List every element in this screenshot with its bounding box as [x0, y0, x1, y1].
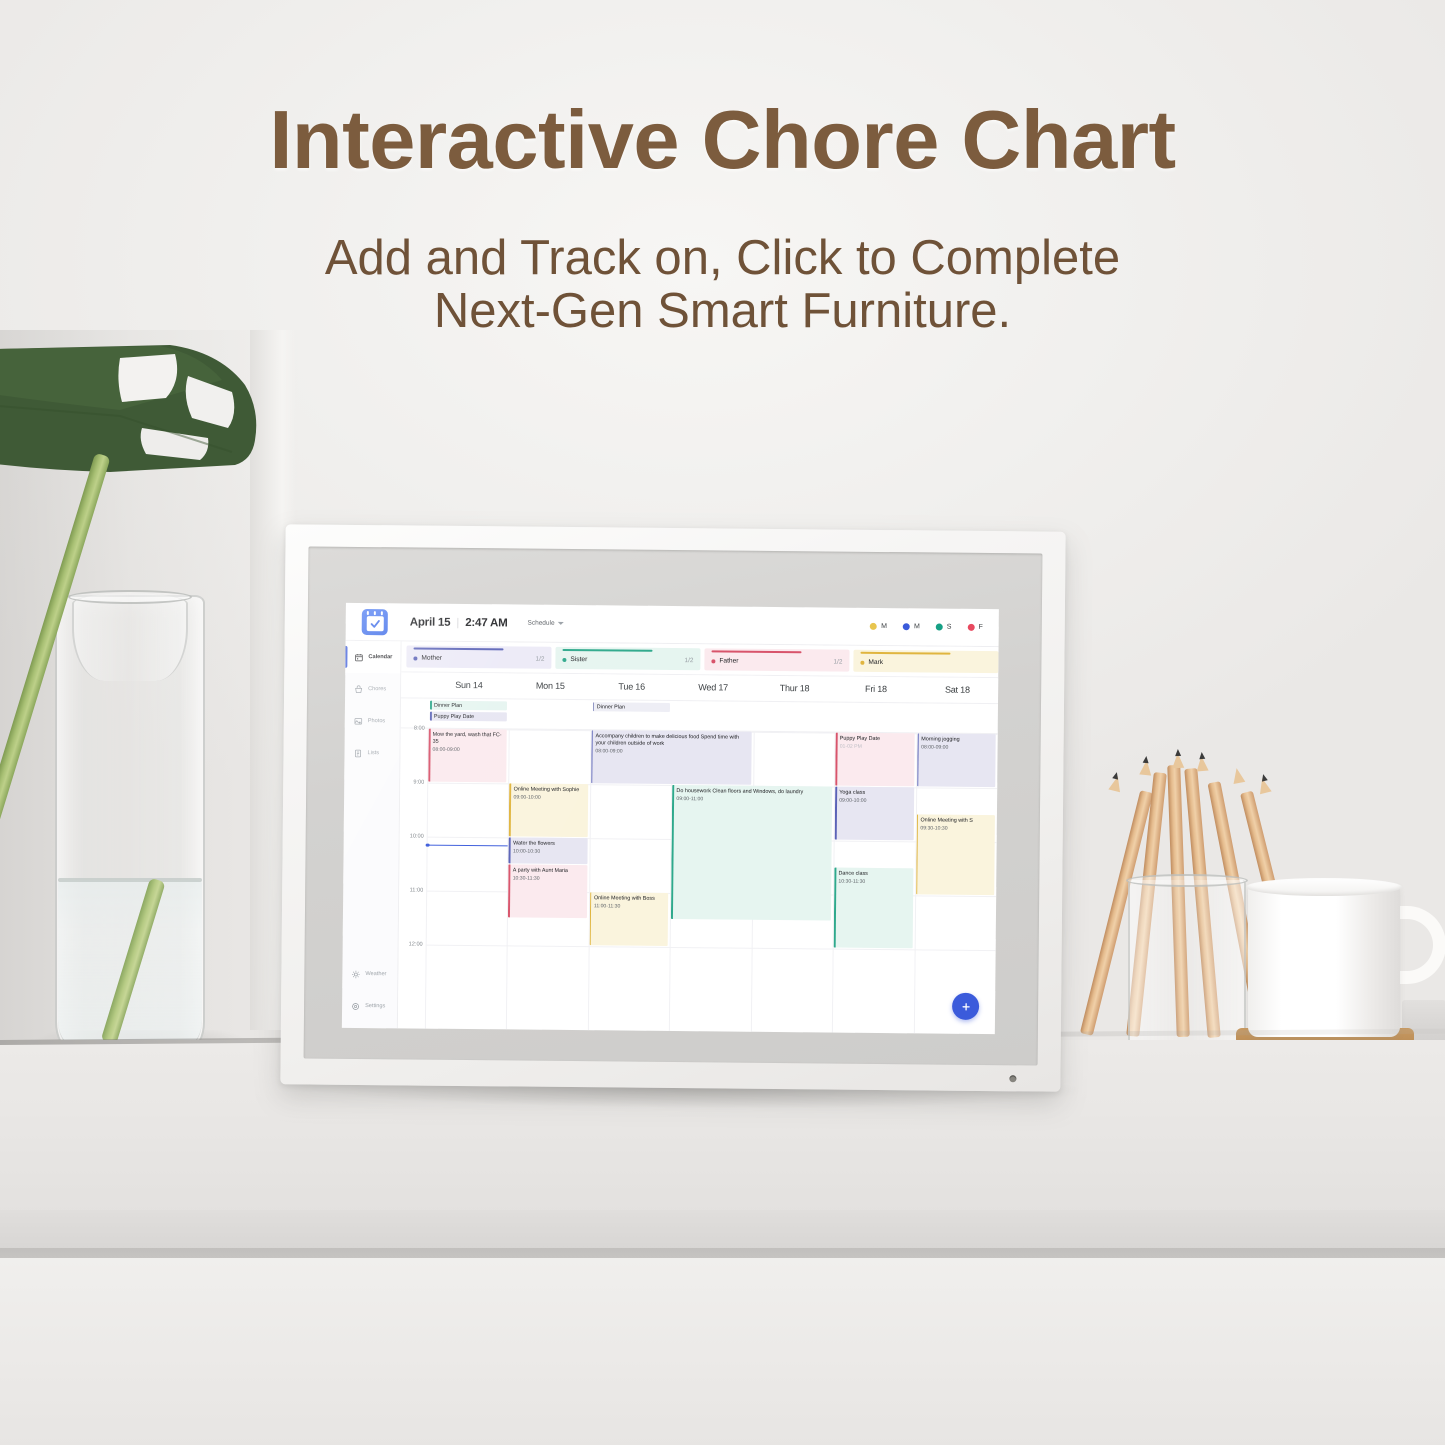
member-progress-bar: [712, 650, 802, 652]
current-time-dot: [426, 843, 430, 847]
header-member-avatars: MMSF: [870, 623, 983, 631]
chevron-down-icon: [558, 622, 564, 625]
member-color-dot: [413, 656, 417, 660]
event-time: 10:30-11:30: [838, 878, 909, 885]
event-time: 08:00-09:00: [595, 748, 748, 756]
member-filter-card[interactable]: Father1/2: [704, 648, 849, 671]
sidebar-item-label: Photos: [368, 718, 385, 724]
event-color-bar: [917, 733, 919, 786]
member-fraction: 1/2: [833, 659, 842, 666]
current-time-line: [427, 845, 508, 847]
monstera-leaf: [0, 340, 290, 540]
event-title: Morning jogging: [921, 736, 992, 744]
member-name: Mark: [860, 659, 883, 666]
member-fraction: 1/2: [535, 656, 544, 663]
gutter-header: [401, 672, 428, 697]
sidebar-item-lists[interactable]: Lists: [344, 737, 399, 770]
event-time: 11:00-11:30: [594, 903, 665, 910]
event-title: Online Meeting with S: [920, 817, 991, 825]
all-day-cell[interactable]: Dinner PlanPuppy Play Date: [428, 699, 510, 729]
event-color-bar: [593, 702, 595, 711]
day-header[interactable]: Mon 15: [509, 673, 591, 699]
vase-lip: [68, 590, 192, 604]
subtitle-line-1: Add and Track on, Click to Complete: [325, 231, 1120, 285]
add-event-button[interactable]: [952, 993, 979, 1020]
sidebar-item-chores[interactable]: Chores: [345, 673, 400, 706]
pencil-cup: [1128, 880, 1246, 1052]
event-title: Mow the yard, wash that FC-35: [433, 731, 505, 746]
event-color-bar: [509, 837, 511, 863]
member-name: Father: [711, 657, 738, 664]
time-label: 11:00: [410, 887, 424, 893]
pencil-cup-rim: [1126, 874, 1248, 887]
lower-wall: [0, 1258, 1445, 1445]
calendar-check-icon[interactable]: [362, 609, 388, 635]
avatar-initial: M: [914, 623, 920, 630]
event-time: 08:00-09:00: [921, 744, 992, 751]
sidebar-item-label: Chores: [368, 686, 386, 692]
calendar-grid: Sun 14Mon 15Tue 16Wed 17Thur 18Fri 18Sat…: [398, 672, 998, 1034]
all-day-cell[interactable]: Dinner Plan: [591, 700, 673, 730]
device-sensor: [1009, 1075, 1016, 1082]
view-selector[interactable]: Schedule: [527, 620, 563, 627]
avatar[interactable]: M: [870, 623, 887, 630]
product-photo-scene: Interactive Chore Chart Add and Track on…: [0, 0, 1445, 1445]
calendar-event[interactable]: Puppy Play Date01-02 PM: [835, 733, 914, 787]
member-color-dot: [860, 660, 864, 664]
avatar[interactable]: M: [903, 623, 920, 630]
event-color-bar: [590, 892, 592, 945]
calendar-event[interactable]: Online Meeting with Sophie09:00-10:00: [509, 783, 588, 837]
calendar-event[interactable]: Online Meeting with Boss11:00-11:30: [590, 892, 669, 946]
avatar-initial: M: [881, 623, 887, 630]
event-time: 08:00-09:00: [433, 746, 504, 753]
vase-neck: [72, 593, 188, 681]
sidebar-item-label: Lists: [367, 750, 379, 756]
event-title: Yoga class: [839, 789, 910, 797]
event-title: Water the flowers: [513, 840, 584, 848]
event-title: Online Meeting with Sophie: [514, 786, 585, 794]
page-title: Interactive Chore Chart: [0, 92, 1445, 188]
event-color-bar: [591, 730, 593, 783]
avatar[interactable]: S: [936, 624, 952, 631]
sidebar-item-label: Settings: [365, 1003, 385, 1009]
event-title: A party with Aunt Maria: [513, 867, 584, 875]
member-name: Mother: [413, 655, 442, 662]
day-header[interactable]: Fri 18: [835, 677, 917, 703]
avatar-initial: F: [978, 624, 982, 631]
sidebar-item-photos[interactable]: Photos: [345, 705, 400, 738]
time-label: 9:00: [413, 780, 424, 786]
day-header[interactable]: Thur 18: [754, 676, 836, 702]
event-title: Dance class: [838, 870, 909, 878]
member-name: Sister: [562, 656, 587, 663]
event-time: 01-02 PM: [840, 743, 911, 750]
view-selector-label: Schedule: [527, 620, 554, 627]
device-screen: April 15 | 2:47 AM Schedule MMSF Ca: [342, 603, 999, 1034]
calendar-event[interactable]: Yoga class09:00-10:00: [835, 787, 914, 841]
event-color-bar: [509, 783, 511, 836]
event-color-bar: [835, 787, 837, 840]
header-time: 2:47 AM: [465, 616, 507, 628]
header-divider: |: [456, 616, 459, 628]
sidebar-item-settings[interactable]: Settings: [342, 990, 397, 1023]
time-gutter: 8:009:0010:0011:0012:00: [398, 728, 428, 1028]
member-color-dot: [562, 657, 566, 661]
calendar-event[interactable]: Do housework Clean floors and Windows, d…: [671, 785, 832, 921]
gutter-allday: [401, 698, 428, 727]
calendar-event[interactable]: Morning jogging08:00-09:00: [917, 733, 996, 787]
all-day-event[interactable]: Dinner Plan: [430, 701, 508, 711]
member-filter-card[interactable]: Sister1/2: [555, 647, 700, 670]
all-day-event[interactable]: Dinner Plan: [593, 702, 671, 712]
member-filter-card[interactable]: Mark: [853, 650, 998, 673]
member-filter-card[interactable]: Mother1/2: [406, 645, 551, 668]
event-title: Online Meeting with Boss: [594, 895, 665, 903]
calendar-event[interactable]: A party with Aunt Maria10:30-11:30: [508, 864, 587, 918]
vase-waterline: [58, 878, 202, 882]
sidebar-item-weather[interactable]: Weather: [342, 958, 397, 991]
calendar-body: 8:009:0010:0011:0012:00 Mow the yard, wa…: [398, 728, 998, 1034]
all-day-event[interactable]: Puppy Play Date: [430, 712, 508, 722]
time-label: 12:00: [409, 941, 423, 947]
member-progress-bar: [563, 649, 653, 651]
avatar[interactable]: F: [967, 624, 982, 631]
all-day-cell[interactable]: [509, 699, 591, 729]
avatar-dot: [903, 623, 910, 630]
event-color-bar: [671, 785, 674, 919]
event-time: 09:00-10:00: [513, 794, 584, 801]
subtitle-line-2: Next-Gen Smart Furniture.: [0, 285, 1445, 338]
avatar-initial: S: [947, 624, 952, 631]
sidebar-spacer: [343, 769, 400, 959]
calendar-event[interactable]: Water the flowers10:00-10:30: [509, 837, 588, 864]
member-progress-bar: [860, 652, 950, 654]
time-label: 8:00: [414, 726, 425, 732]
event-color-bar: [508, 864, 510, 917]
event-time: 10:00-10:30: [513, 848, 584, 855]
avatar-dot: [870, 623, 877, 630]
calendar-event[interactable]: Mow the yard, wash that FC-3508:00-09:00: [428, 729, 507, 783]
event-color-bar: [428, 729, 430, 782]
time-label: 10:00: [410, 833, 424, 839]
mug-rim: [1246, 878, 1402, 896]
sidebar-item-calendar[interactable]: Calendar: [345, 641, 400, 674]
member-progress-bar: [414, 648, 504, 650]
sidebar-nav: Calendar Chores Photos: [342, 641, 402, 1029]
sidebar-item-label: Calendar: [368, 654, 392, 660]
day-header[interactable]: Tue 16: [591, 674, 673, 700]
all-day-cell[interactable]: [916, 703, 998, 733]
event-title: Accompany children to make delicious foo…: [595, 733, 748, 749]
member-color-dot: [711, 659, 715, 663]
all-day-cell[interactable]: [672, 701, 754, 731]
app-header: April 15 | 2:47 AM Schedule MMSF: [346, 603, 999, 647]
smart-display-device: April 15 | 2:47 AM Schedule MMSF Ca: [280, 524, 1065, 1091]
header-date: April 15: [410, 616, 451, 628]
page-subtitle: Add and Track on, Click to Complete Next…: [0, 232, 1445, 338]
event-color-bar: [430, 712, 432, 721]
calendar-event[interactable]: Dance class10:30-11:30: [834, 868, 913, 949]
day-header[interactable]: Sun 14: [428, 673, 510, 699]
day-header[interactable]: Sat 18: [917, 677, 999, 703]
calendar-event[interactable]: Online Meeting with S09:30-10:30: [916, 814, 995, 895]
event-time: 09:00-10:00: [839, 797, 910, 804]
avatar-dot: [936, 624, 943, 631]
event-color-bar: [835, 733, 837, 786]
event-time: 10:30-11:30: [513, 875, 584, 882]
calendar-event[interactable]: Accompany children to make delicious foo…: [591, 730, 751, 785]
event-color-bar: [916, 814, 918, 894]
event-time: 09:30-10:30: [920, 825, 991, 832]
avatar-dot: [967, 624, 974, 631]
event-color-bar: [430, 701, 432, 710]
event-title: Do housework Clean floors and Windows, d…: [676, 788, 829, 797]
member-fraction: 1/2: [684, 657, 693, 664]
coffee-mug: [1248, 885, 1400, 1037]
sidebar-item-label: Weather: [365, 971, 386, 977]
day-header[interactable]: Wed 17: [672, 675, 754, 701]
event-color-bar: [834, 868, 836, 948]
all-day-cell[interactable]: [753, 702, 835, 732]
event-time: 09:00-11:00: [676, 796, 829, 804]
event-title: Puppy Play Date: [840, 735, 911, 743]
all-day-cell[interactable]: [835, 703, 917, 733]
